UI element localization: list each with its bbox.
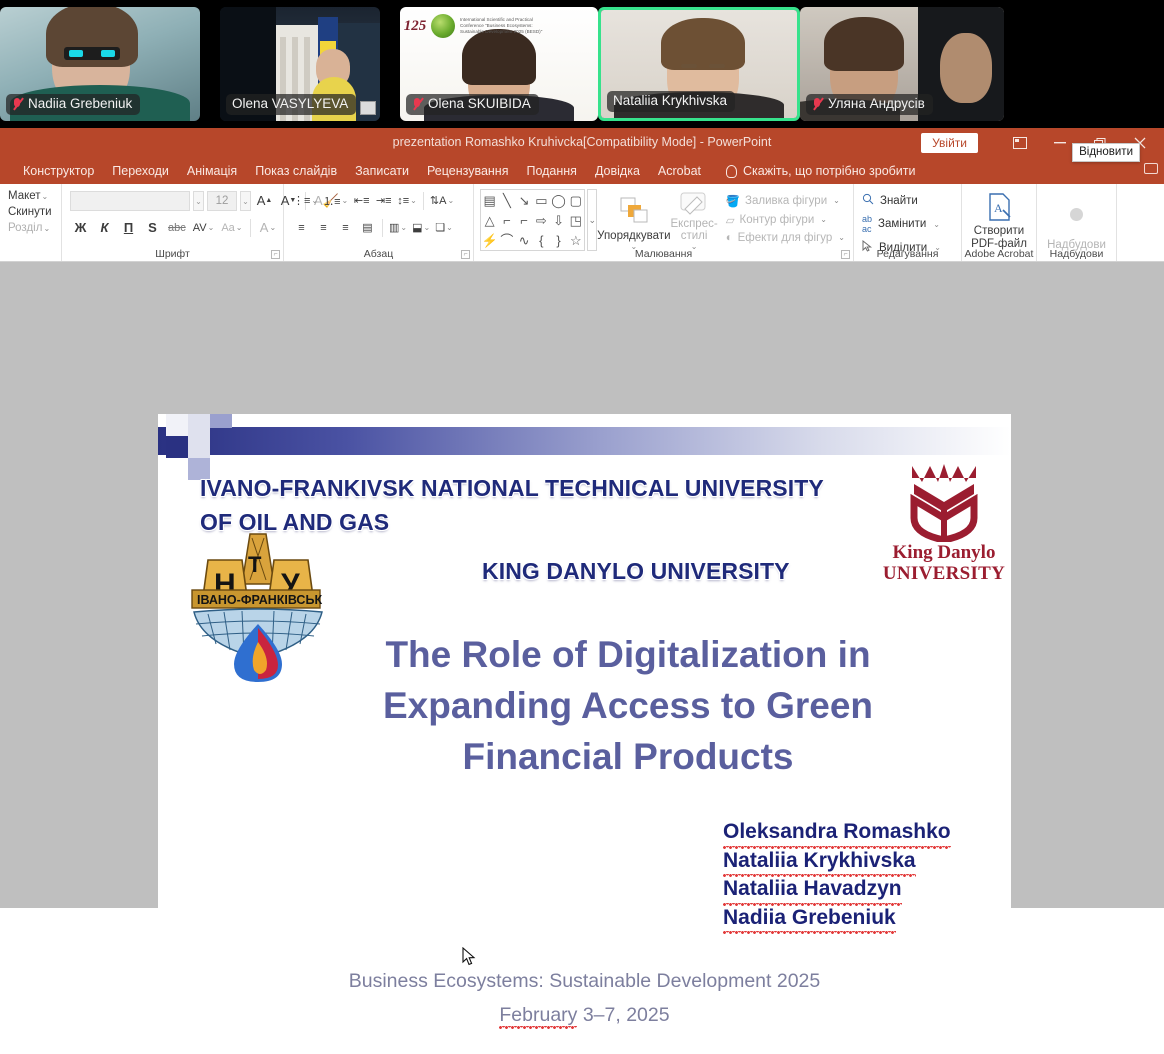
text-direction-icon[interactable]: ⇅A⌄ (428, 190, 456, 211)
shape-outline-button[interactable]: ▱ Контур фігури⌄ (724, 210, 847, 229)
shape-star-icon[interactable]: ☆ (570, 234, 582, 247)
participant-tile[interactable]: Olena VASYLYEVA (220, 7, 380, 121)
font-name-dropdown-icon[interactable]: ⌄ (193, 191, 204, 211)
replace-icon: abac (862, 214, 872, 234)
font-name-input[interactable] (70, 191, 190, 211)
shapes-gallery[interactable]: ▤ ╲ ↘ ▭ ◯ ▢ △ ⌐ ⌐ ⇨ ⇩ ◳ ⚡ ⌒ ∿ { } (480, 189, 585, 251)
increase-indent-icon[interactable]: ⇥≡ (373, 190, 394, 211)
ribbon-group-drawing: ▤ ╲ ↘ ▭ ◯ ▢ △ ⌐ ⌐ ⇨ ⇩ ◳ ⚡ ⌒ ∿ { } (474, 184, 854, 262)
create-pdf-icon: A (983, 189, 1015, 225)
mic-muted-icon (812, 97, 823, 111)
lightbulb-icon (726, 165, 737, 178)
footer-date-rest: 3–7, 2025 (577, 1004, 669, 1026)
addins-icon (1070, 189, 1083, 239)
tile-video: Nadiia Grebeniuk (0, 7, 200, 121)
shape-arc-icon[interactable]: ⌒ (500, 234, 513, 247)
participant-name-chip: Уляна Андрусів (806, 94, 933, 115)
author-name: Nataliia Havadzyn (723, 875, 902, 904)
participant-tile[interactable]: Уляна Андрусів (800, 7, 1004, 121)
shape-effects-button[interactable]: ◐ Ефекти для фігур⌄ (724, 229, 847, 246)
author-name: Oleksandra Romashko (723, 818, 951, 847)
participant-name-chip: Nadiia Grebeniuk (6, 94, 140, 115)
tile-video: 125 International Scientific and Practic… (400, 7, 598, 121)
restore-tooltip: Відновити (1072, 143, 1140, 162)
group-label-font: Шрифт (62, 248, 283, 260)
tab-record[interactable]: Записати (346, 160, 418, 183)
justify-icon[interactable]: ▤ (357, 217, 378, 238)
paragraph-row-bottom: ≡ ≡ ≡ ▤ ▥⌄ ⬓⌄ ❏⌄ (290, 214, 456, 241)
participant-name: Nataliia Krykhivska (613, 93, 727, 109)
group-label-acrobat: Adobe Acrobat (962, 248, 1036, 260)
group-label-editing: Редагування (854, 248, 961, 260)
shape-line-arrow-icon[interactable]: ↘ (519, 194, 530, 207)
ribbon-group-addins: Надбудови Надбудови (1037, 184, 1117, 262)
numbering-icon[interactable]: ⒈≡⌄ (321, 190, 350, 211)
mic-muted-icon (412, 97, 423, 111)
ribbon-group-editing: Знайти abac Замінити⌄ Виділити⌄ Редагува… (854, 184, 962, 262)
character-spacing-button[interactable]: AV⌄ (191, 217, 217, 238)
decrease-indent-icon[interactable]: ⇤≡ (351, 190, 372, 211)
slide-canvas: IVANO-FRANKIVSK NATIONAL TECHNICAL UNIVE… (0, 262, 1164, 908)
shape-triangle-icon[interactable]: △ (485, 214, 495, 227)
shape-curve-icon[interactable]: ∿ (519, 234, 530, 247)
font-dialog-launcher[interactable]: ⌐ (271, 250, 280, 259)
font-color-button[interactable]: A⌄ (257, 217, 278, 238)
replace-button[interactable]: abac Замінити⌄ (860, 211, 942, 237)
shape-left-brace-icon[interactable]: { (539, 234, 543, 247)
arrange-icon (615, 189, 653, 230)
conference-globe-icon (431, 14, 455, 38)
shapes-gallery-more-icon[interactable]: ⌄ (587, 189, 597, 251)
grow-font-button[interactable]: A▲ (254, 190, 275, 211)
shape-fill-icon: 🪣 (726, 194, 740, 208)
participant-name-chip: Olena SKUIBIDA (406, 94, 539, 115)
tab-slide-show[interactable]: Показ слайдів (246, 160, 346, 183)
footer-date-month: February (499, 1004, 577, 1027)
sign-in-button[interactable]: Увійти (921, 133, 978, 153)
participant-name: Olena VASYLYEVA (232, 96, 348, 112)
convert-to-smartart-icon[interactable]: ❏⌄ (433, 217, 455, 238)
shape-right-brace-icon[interactable]: } (556, 234, 560, 247)
comment-icon[interactable] (1144, 163, 1158, 174)
participant-tile[interactable]: Nadiia Grebeniuk (0, 7, 200, 121)
tab-help[interactable]: Довідка (586, 160, 649, 183)
university-name-primary: IVANO-FRANKIVSK NATIONAL TECHNICAL UNIVE… (200, 471, 840, 539)
participant-name: Уляна Андрусів (828, 96, 925, 112)
section-button[interactable]: Розділ⌄ (6, 220, 55, 236)
shape-fill-button[interactable]: 🪣 Заливка фігури⌄ (724, 191, 847, 210)
quick-styles-button[interactable]: Експрес-стилі⌄ (671, 189, 718, 251)
create-pdf-button[interactable]: A Створити PDF-файл (968, 189, 1030, 251)
participant-tile[interactable]: 125 International Scientific and Practic… (400, 7, 598, 121)
svg-text:Т: Т (248, 552, 262, 577)
video-conference-strip: Nadiia Grebeniuk Olena VASYLYEVA (0, 0, 1164, 128)
line-spacing-icon[interactable]: ↕≡⌄ (395, 190, 419, 211)
tab-view[interactable]: Подання (517, 160, 585, 183)
participant-name: Nadiia Grebeniuk (28, 96, 132, 112)
ribbon-group-acrobat: A Створити PDF-файл Adobe Acrobat (962, 184, 1037, 262)
participant-name-chip: Olena VASYLYEVA (226, 94, 356, 115)
drawing-dialog-launcher[interactable]: ⌐ (841, 250, 850, 259)
bold-button[interactable]: Ж (70, 217, 91, 238)
font-row-bottom: Ж К П S abc AV⌄ Aa⌄ A⌄ (68, 214, 280, 241)
conference-anniversary-badge: 125 (404, 13, 426, 39)
shape-elbow-arrow-icon[interactable]: ⌐ (520, 214, 528, 227)
group-label-drawing: Малювання (474, 248, 853, 260)
search-icon (862, 193, 874, 208)
tab-acrobat[interactable]: Acrobat (649, 160, 710, 183)
quick-styles-icon (675, 189, 713, 218)
slide-title: The Role of Digitalization in Expanding … (328, 629, 928, 782)
ribbon: Макет⌄ Скинути Розділ⌄ ⌄ 12 ⌄ A▲ A▼ A🧹 (0, 184, 1164, 262)
align-text-icon[interactable]: ⬓⌄ (410, 217, 432, 238)
bullets-icon[interactable]: ⋮≡⌄ (291, 190, 320, 211)
virtual-background-banner: 125 International Scientific and Practic… (404, 10, 594, 42)
mic-muted-icon (12, 97, 23, 111)
group-label-paragraph: Абзац (284, 248, 473, 260)
shape-outline-icon: ▱ (726, 213, 735, 227)
italic-button[interactable]: К (94, 217, 115, 238)
shape-right-arrow-icon[interactable]: ⇨ (536, 214, 547, 227)
tab-animations[interactable]: Анімація (178, 160, 246, 183)
tell-me-search[interactable]: Скажіть, що потрібно зробити (726, 164, 916, 178)
reset-button[interactable]: Скинути (6, 204, 55, 220)
ribbon-group-slides: Макет⌄ Скинути Розділ⌄ (0, 184, 62, 262)
shape-elbow-connector-icon[interactable]: ⌐ (503, 214, 511, 227)
conference-line-3: Sustainable Development 2025 (BESD)" (460, 29, 594, 35)
shape-effects-icon: ◐ (726, 232, 733, 244)
paragraph-dialog-launcher[interactable]: ⌐ (461, 250, 470, 259)
participant-tile-active-speaker[interactable]: Nataliia Krykhivska (598, 7, 800, 121)
ribbon-display-options-icon[interactable] (1000, 128, 1040, 158)
powerpoint-window: prezentation Romashko Kruhivcka[Compatib… (0, 128, 1164, 908)
king-danylo-line-1: King Danylo (893, 542, 996, 563)
find-button[interactable]: Знайти (860, 190, 920, 211)
align-left-icon[interactable]: ≡ (291, 217, 312, 238)
shape-folded-corner-icon[interactable]: ◳ (570, 214, 582, 227)
ribbon-tab-bar: Конструктор Переходи Анімація Показ слай… (0, 158, 1164, 184)
university-name-secondary: KING DANYLO UNIVERSITY (482, 554, 942, 588)
tab-review[interactable]: Рецензування (418, 160, 517, 183)
slide[interactable]: IVANO-FRANKIVSK NATIONAL TECHNICAL UNIVE… (158, 414, 1011, 1054)
author-name: Nataliia Krykhivska (723, 847, 916, 876)
author-list: Oleksandra Romashko Nataliia Krykhivska … (723, 818, 951, 932)
decor-square (210, 455, 232, 469)
tile-video: Уляна Андрусів (800, 7, 1004, 121)
svg-text:ІВАНО-ФРАНКІВСЬК: ІВАНО-ФРАНКІВСЬК (197, 593, 322, 607)
shape-format-commands: 🪣 Заливка фігури⌄ ▱ Контур фігури⌄ ◐ Ефе… (718, 187, 847, 246)
shape-line-icon[interactable]: ╲ (503, 194, 511, 207)
ifntuog-logo: Н У Т ІВАНО-ФРАНКІВСЬК НГ (186, 532, 331, 687)
text-shadow-button[interactable]: S (142, 217, 163, 238)
decor-square (166, 436, 188, 458)
shape-rounded-rect-icon[interactable]: ▢ (570, 194, 582, 207)
footer-conference: Business Ecosystems: Sustainable Develop… (158, 970, 1011, 993)
font-size-dropdown-icon[interactable]: ⌄ (240, 191, 251, 211)
align-center-icon[interactable]: ≡ (313, 217, 334, 238)
tab-design[interactable]: Конструктор (14, 160, 103, 183)
shape-textbox-icon[interactable]: ▤ (483, 194, 495, 207)
shape-down-arrow-icon[interactable]: ⇩ (553, 214, 564, 227)
svg-text:A: A (994, 201, 1003, 215)
decor-square (210, 414, 232, 428)
font-size-input[interactable]: 12 (207, 191, 237, 211)
align-right-icon[interactable]: ≡ (335, 217, 356, 238)
king-danylo-logo: King Danylo UNIVERSITY (880, 460, 1008, 594)
shape-oval-icon[interactable]: ◯ (551, 194, 566, 207)
decor-square (188, 414, 210, 458)
participant-name: Olena SKUIBIDA (428, 96, 531, 112)
footer-date: February 3–7, 2025 (158, 1004, 1011, 1027)
change-case-button[interactable]: Aa⌄ (219, 217, 244, 238)
shape-freeform-icon[interactable]: ⚡ (482, 234, 498, 247)
king-danylo-crest-icon (906, 460, 982, 542)
screen-share-badge (360, 101, 376, 115)
strikethrough-button[interactable]: abc (166, 217, 188, 238)
layout-button[interactable]: Макет⌄ (6, 188, 55, 204)
underline-button[interactable]: П (118, 217, 139, 238)
participant-name-chip: Nataliia Krykhivska (607, 91, 735, 112)
arrange-button[interactable]: Упорядкувати⌄ (597, 189, 670, 251)
tile-video: Nataliia Krykhivska (598, 7, 800, 121)
shape-rectangle-icon[interactable]: ▭ (535, 194, 547, 207)
columns-icon[interactable]: ▥⌄ (387, 217, 409, 238)
tile-video: Olena VASYLYEVA (220, 7, 380, 121)
slide-decor-band (158, 427, 1011, 455)
decor-square (166, 414, 188, 436)
group-label-addins: Надбудови (1037, 248, 1116, 260)
paragraph-row-top: ⋮≡⌄ ⒈≡⌄ ⇤≡ ⇥≡ ↕≡⌄ ⇅A⌄ (290, 187, 457, 214)
addins-button[interactable]: Надбудови (1043, 189, 1110, 251)
tab-transitions[interactable]: Переходи (103, 160, 178, 183)
ribbon-group-paragraph: ⋮≡⌄ ⒈≡⌄ ⇤≡ ⇥≡ ↕≡⌄ ⇅A⌄ ≡ ≡ ≡ ▤ ▥⌄ ⬓⌄ ❏⌄ (284, 184, 474, 262)
ribbon-group-font: ⌄ 12 ⌄ A▲ A▼ A🧹 Ж К П S abc AV⌄ (62, 184, 284, 262)
title-bar: prezentation Romashko Kruhivcka[Compatib… (0, 128, 1164, 158)
king-danylo-line-2: UNIVERSITY (883, 563, 1005, 584)
tell-me-label: Скажіть, що потрібно зробити (743, 164, 916, 178)
